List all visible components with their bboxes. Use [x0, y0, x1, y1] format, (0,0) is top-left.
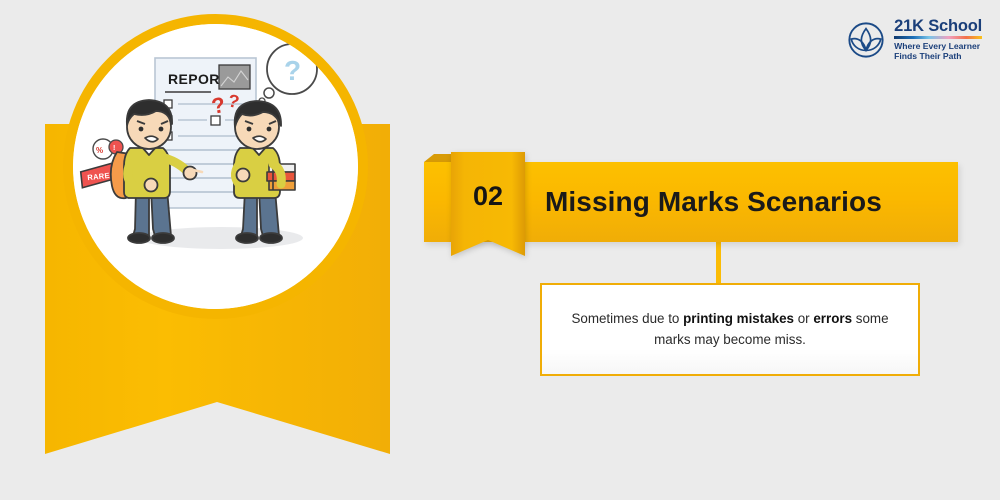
illustration-circle: REPORT ? ?	[63, 14, 368, 319]
brand-logo[interactable]: 21K School Where Every Learner Finds The…	[847, 18, 982, 62]
brand-tagline-line1: Where Every Learner	[894, 41, 980, 51]
description-bold-2: errors	[813, 311, 852, 326]
banner-title-text: Missing Marks Scenarios	[545, 162, 958, 242]
step-number: 02	[451, 152, 525, 240]
brand-gradient-rule	[894, 36, 982, 39]
description-segment-2: or	[794, 311, 813, 326]
svg-text:!: !	[113, 145, 115, 152]
brand-logo-text: 21K School Where Every Learner Finds The…	[894, 18, 982, 62]
svg-text:?: ?	[284, 55, 301, 86]
brand-tagline: Where Every Learner Finds Their Path	[894, 41, 982, 62]
thought-bubble: ?	[259, 44, 317, 104]
lotus-circle-icon	[847, 21, 885, 59]
description-bold-1: printing mistakes	[683, 311, 794, 326]
brand-name: 21K School	[894, 18, 982, 35]
slide-canvas: REPORT ? ?	[0, 0, 1000, 500]
banner-to-description-connector	[716, 238, 721, 286]
description-box: Sometimes due to printing mistakes or er…	[540, 283, 920, 376]
students-report-illustration: REPORT ? ?	[73, 24, 358, 309]
student-right	[234, 101, 295, 243]
description-text: Sometimes due to printing mistakes or er…	[568, 309, 892, 351]
svg-text:%: %	[96, 146, 103, 155]
description-segment-1: Sometimes due to	[571, 311, 683, 326]
brand-tagline-line2: Finds Their Path	[894, 51, 961, 61]
